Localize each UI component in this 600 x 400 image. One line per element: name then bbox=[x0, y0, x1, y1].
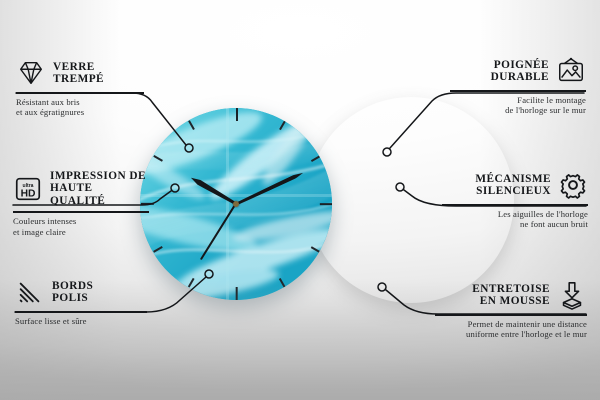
wire-dot-bords-polis bbox=[205, 270, 213, 278]
wire-dot-poignee bbox=[383, 148, 391, 156]
feature-verre-trempe: VERRE TREMPÉ Résistant aux bris et aux é… bbox=[16, 58, 144, 118]
feature-title: ENTRETOISE EN MOUSSE bbox=[472, 283, 550, 308]
feature-description: Les aiguilles de l'horloge ne font aucun… bbox=[442, 209, 588, 229]
gear-icon bbox=[558, 170, 588, 200]
diamond-icon bbox=[16, 58, 46, 88]
feature-poignee-durable: POIGNÉE DURABLE Facilite le montage de l… bbox=[450, 56, 586, 116]
wire-dot-mecanisme bbox=[396, 183, 404, 191]
feature-title: POIGNÉE DURABLE bbox=[491, 59, 549, 84]
ultra-hd-icon: ultra HD bbox=[13, 174, 43, 204]
product-infographic: AA bbox=[0, 0, 600, 400]
feature-header: VERRE TREMPÉ bbox=[16, 58, 144, 88]
feature-rule bbox=[16, 92, 144, 94]
foam-spacer-icon bbox=[557, 280, 587, 310]
feature-description: Couleurs intenses et image claire bbox=[13, 216, 149, 236]
wire-dot-verre-trempe bbox=[185, 144, 193, 152]
feature-title: IMPRESSION DE HAUTE QUALITÉ bbox=[50, 170, 149, 207]
feature-header: POIGNÉE DURABLE bbox=[450, 56, 586, 86]
feature-title: VERRE TREMPÉ bbox=[53, 61, 104, 86]
feature-description: Permet de maintenir une distance uniform… bbox=[435, 319, 587, 339]
wire-dot-impression bbox=[171, 184, 179, 192]
feature-bords-polis: BORDS POLIS Surface lisse et sûre bbox=[15, 277, 147, 326]
feature-header: MÉCANISME SILENCIEUX bbox=[442, 170, 588, 200]
ultra-hd-icon-main: HD bbox=[21, 188, 36, 199]
wire-dot-entretoise bbox=[378, 283, 386, 291]
feature-description: Résistant aux bris et aux égratignures bbox=[16, 97, 144, 117]
feature-impression-haute-qualite: ultra HD IMPRESSION DE HAUTE QUALITÉ Cou… bbox=[13, 170, 149, 237]
feature-header: BORDS POLIS bbox=[15, 277, 147, 307]
feature-title: BORDS POLIS bbox=[52, 280, 93, 305]
feature-header: ultra HD IMPRESSION DE HAUTE QUALITÉ bbox=[13, 170, 149, 207]
feature-title: MÉCANISME SILENCIEUX bbox=[475, 173, 551, 198]
feature-rule bbox=[13, 211, 149, 213]
feature-rule bbox=[450, 90, 586, 92]
feature-rule bbox=[442, 204, 588, 206]
feature-rule bbox=[15, 311, 147, 313]
feature-header: ENTRETOISE EN MOUSSE bbox=[435, 280, 587, 310]
feature-rule bbox=[435, 314, 587, 316]
feature-mecanisme-silencieux: MÉCANISME SILENCIEUX Les aiguilles de l'… bbox=[442, 170, 588, 230]
feature-description: Surface lisse et sûre bbox=[15, 316, 147, 326]
polished-edges-icon bbox=[15, 277, 45, 307]
feature-entretoise-en-mousse: ENTRETOISE EN MOUSSE Permet de maintenir… bbox=[435, 280, 587, 340]
hanging-frame-icon bbox=[556, 56, 586, 86]
feature-description: Facilite le montage de l'horloge sur le … bbox=[450, 95, 586, 115]
